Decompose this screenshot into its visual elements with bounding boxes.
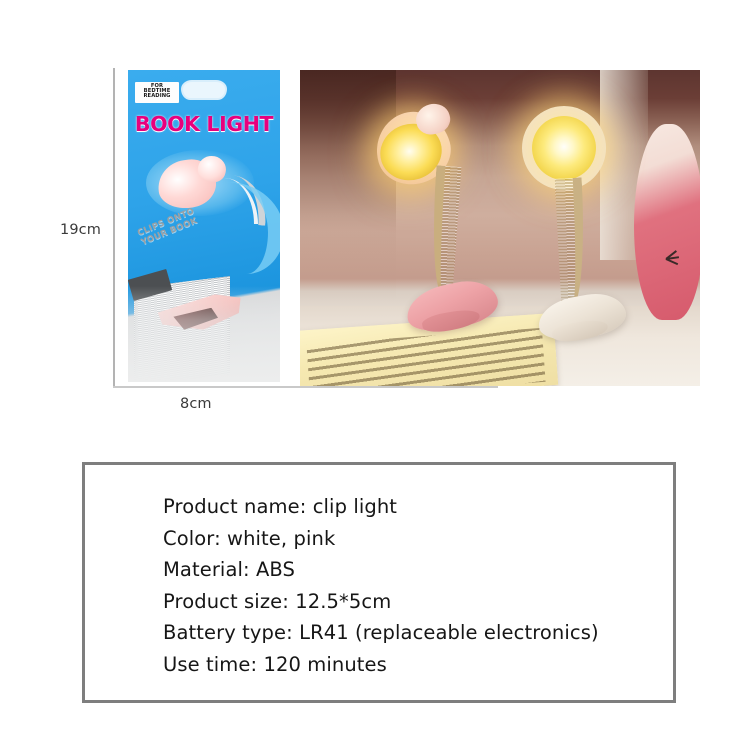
package-bottom-fade	[128, 286, 280, 382]
badge-line-2: READING	[138, 94, 176, 99]
spec-product-size: Product size: 12.5*5cm	[163, 586, 659, 618]
spec-use-time: Use time: 120 minutes	[163, 649, 659, 681]
package-hang-hole	[181, 80, 227, 100]
spec-product-name: Product name: clip light	[163, 491, 659, 523]
bedtime-reading-badge: FOR BEDTIME READING	[135, 82, 179, 103]
white-lamp-glow	[532, 116, 596, 180]
specification-box: Product name: clip light Color: white, p…	[82, 462, 676, 703]
photo-dark-wall	[300, 70, 396, 300]
width-measure-line	[113, 386, 498, 388]
pink-decor-object	[634, 124, 700, 320]
decor-whisker-icon	[656, 248, 678, 270]
spec-battery-type: Battery type: LR41 (replaceable electron…	[163, 617, 659, 649]
height-dimension-label: 19cm	[60, 222, 101, 238]
spec-color: Color: white, pink	[163, 523, 659, 555]
packaging-card-image: FOR BEDTIME READING BOOK LIGHT CLIPS ONT…	[128, 70, 280, 382]
package-title: BOOK LIGHT	[128, 112, 280, 136]
width-dimension-label: 8cm	[180, 396, 212, 412]
spec-material: Material: ABS	[163, 554, 659, 586]
height-measure-line	[113, 68, 115, 388]
package-arc-band	[190, 182, 280, 274]
product-photo	[300, 70, 700, 386]
specification-list: Product name: clip light Color: white, p…	[163, 491, 659, 680]
